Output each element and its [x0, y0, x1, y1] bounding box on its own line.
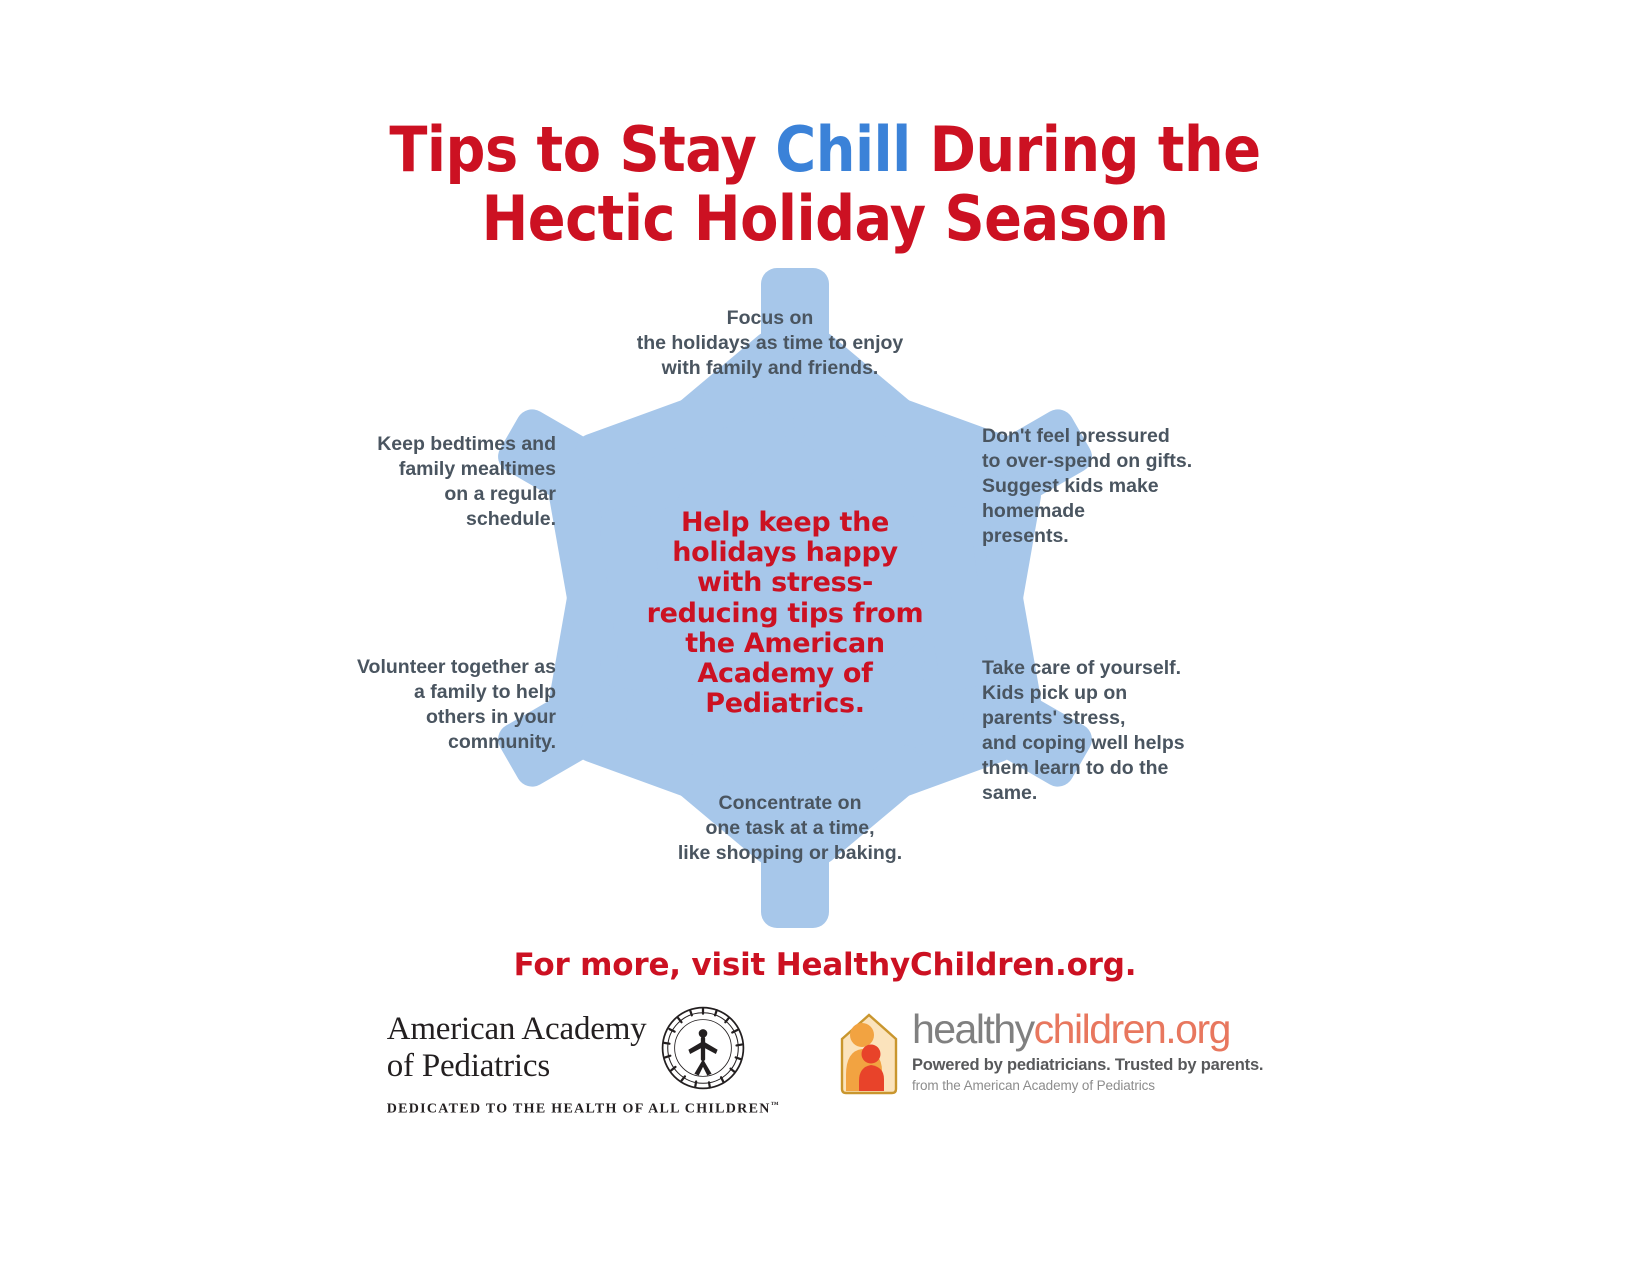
tip-take-care-of-yourself: Take care of yourself. Kids pick up on p…	[982, 656, 1202, 806]
aap-logo-row: American Academy of Pediatrics	[387, 1005, 747, 1091]
tip-dont-overspend: Don't feel pressured to over-spend on gi…	[982, 424, 1212, 549]
title-accent-chill: Chill	[775, 113, 910, 186]
healthychildren-text-block: healthychildren.org Powered by pediatric…	[912, 1009, 1263, 1093]
tip-concentrate-one-task: Concentrate on one task at a time, like …	[610, 791, 970, 866]
title-text-part1: Tips to Stay	[389, 113, 775, 186]
aap-tagline: DEDICATED TO THE HEALTH OF ALL CHILDREN™	[387, 1100, 780, 1118]
aap-tagline-text: DEDICATED TO THE HEALTH OF ALL CHILDREN	[387, 1102, 771, 1117]
page-title: Tips to Stay Chill During the Hectic Hol…	[0, 118, 1650, 250]
tip-focus-on-holidays: Focus on the holidays as time to enjoy w…	[600, 306, 940, 381]
title-line-2: Hectic Holiday Season	[0, 187, 1650, 250]
healthychildren-mother-child-icon	[838, 1009, 900, 1095]
aap-wordmark-line1: American Academy	[387, 1011, 647, 1048]
infographic-canvas: Tips to Stay Chill During the Hectic Hol…	[0, 0, 1650, 1275]
hc-wordmark-healthy: healthy	[912, 1006, 1034, 1052]
aap-logo: American Academy of Pediatrics	[387, 1005, 780, 1118]
title-text-part3: During the	[911, 113, 1261, 186]
footer-call-to-action[interactable]: For more, visit HealthyChildren.org.	[0, 947, 1650, 983]
aap-seal-icon	[660, 1005, 746, 1091]
tip-volunteer-together: Volunteer together as a family to help o…	[316, 655, 556, 755]
tip-keep-bedtimes: Keep bedtimes and family mealtimes on a …	[320, 432, 556, 532]
aap-wordmark: American Academy of Pediatrics	[387, 1011, 647, 1085]
healthychildren-logo: healthychildren.org Powered by pediatric…	[838, 1009, 1263, 1095]
aap-wordmark-line2: of Pediatrics	[387, 1048, 647, 1085]
logo-bar: American Academy of Pediatrics	[0, 1005, 1650, 1125]
center-message: Help keep the holidays happy with stress…	[640, 508, 930, 720]
hc-wordmark-children-org: children.org	[1034, 1006, 1230, 1052]
healthychildren-tagline-primary: Powered by pediatricians. Trusted by par…	[912, 1056, 1263, 1075]
aap-trademark-mark: ™	[771, 1100, 780, 1109]
title-line-1: Tips to Stay Chill During the	[0, 118, 1650, 181]
healthychildren-tagline-secondary: from the American Academy of Pediatrics	[912, 1078, 1263, 1093]
healthychildren-wordmark: healthychildren.org	[912, 1009, 1263, 1050]
